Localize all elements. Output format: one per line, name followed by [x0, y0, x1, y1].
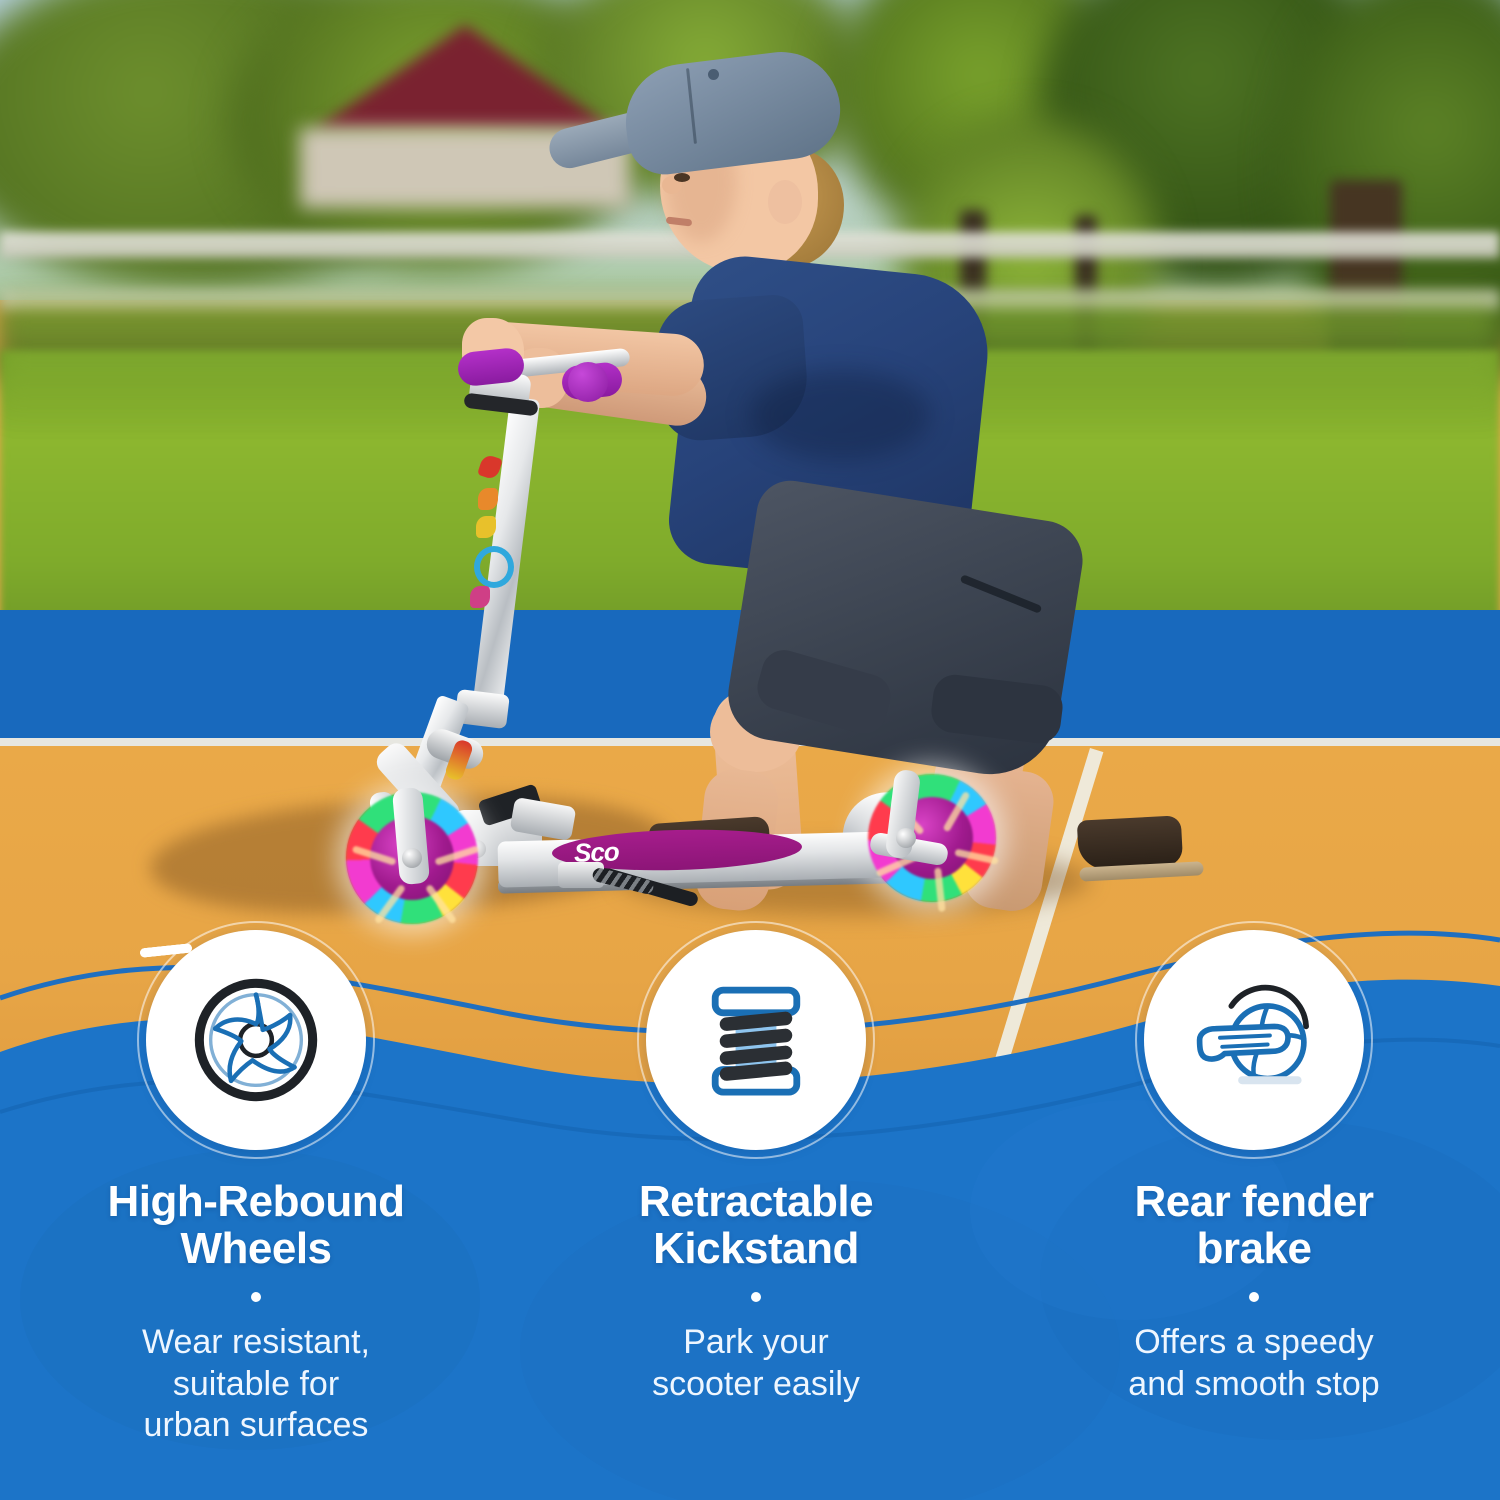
feature-description: Offers a speedy and smooth stop: [1128, 1322, 1379, 1405]
title-divider: [751, 1292, 761, 1302]
feature-description: Park your scooter easily: [652, 1322, 860, 1405]
wheel-spoke: [955, 849, 999, 865]
rainbow-decal: [470, 586, 490, 608]
badge-circle: [646, 930, 866, 1150]
fender-brake-foot-icon: [1186, 972, 1322, 1108]
infographic-canvas: Sco: [0, 0, 1500, 1500]
wheel-spoke: [434, 845, 479, 866]
divider-dot: [1249, 1292, 1259, 1302]
wheel-spoke: [943, 791, 971, 832]
feature-icon-badge: [146, 930, 366, 1150]
badge-circle: [1144, 930, 1364, 1150]
cap-button: [708, 69, 719, 80]
feature-icon-badge: [646, 930, 866, 1150]
scooter-wheel-icon: [188, 972, 324, 1108]
rider-sandal: [1077, 815, 1183, 870]
kick-scooter: Sco: [330, 340, 970, 930]
wheel-spoke: [352, 845, 397, 866]
badge-circle: [146, 930, 366, 1150]
rider-ear: [768, 180, 802, 224]
feature-highlights-row: High-Rebound Wheels Wear resistant, suit…: [0, 930, 1500, 1500]
feature-card-rear-fender-brake[interactable]: Rear fender brake Offers a speedy and sm…: [1002, 930, 1500, 1500]
divider-dot: [751, 1292, 761, 1302]
scooter-grip-end-cap: [568, 362, 608, 402]
ground-line: [1238, 1076, 1301, 1084]
rainbow-decal: [474, 546, 514, 588]
feature-card-high-rebound-wheels[interactable]: High-Rebound Wheels Wear resistant, suit…: [0, 930, 502, 1500]
feature-title: Retractable Kickstand: [639, 1178, 873, 1272]
feature-title: Rear fender brake: [1134, 1178, 1373, 1272]
feature-icon-badge: [1144, 930, 1364, 1150]
title-divider: [251, 1292, 261, 1302]
sandal-sole: [1079, 861, 1204, 881]
rainbow-decal: [478, 488, 498, 510]
divider-dot: [251, 1292, 261, 1302]
feature-description: Wear resistant, suitable for urban surfa…: [142, 1322, 370, 1446]
front-axle-bolt: [402, 848, 422, 868]
rainbow-decal: [476, 516, 496, 538]
feature-title: High-Rebound Wheels: [107, 1178, 404, 1272]
rainbow-decal: [477, 453, 503, 480]
rear-axle-bolt: [896, 828, 916, 848]
rider-eye: [674, 173, 690, 182]
spring-kickstand-icon: [688, 972, 824, 1108]
title-divider: [1249, 1292, 1259, 1302]
feature-card-retractable-kickstand[interactable]: Retractable Kickstand Park your scooter …: [502, 930, 1002, 1500]
